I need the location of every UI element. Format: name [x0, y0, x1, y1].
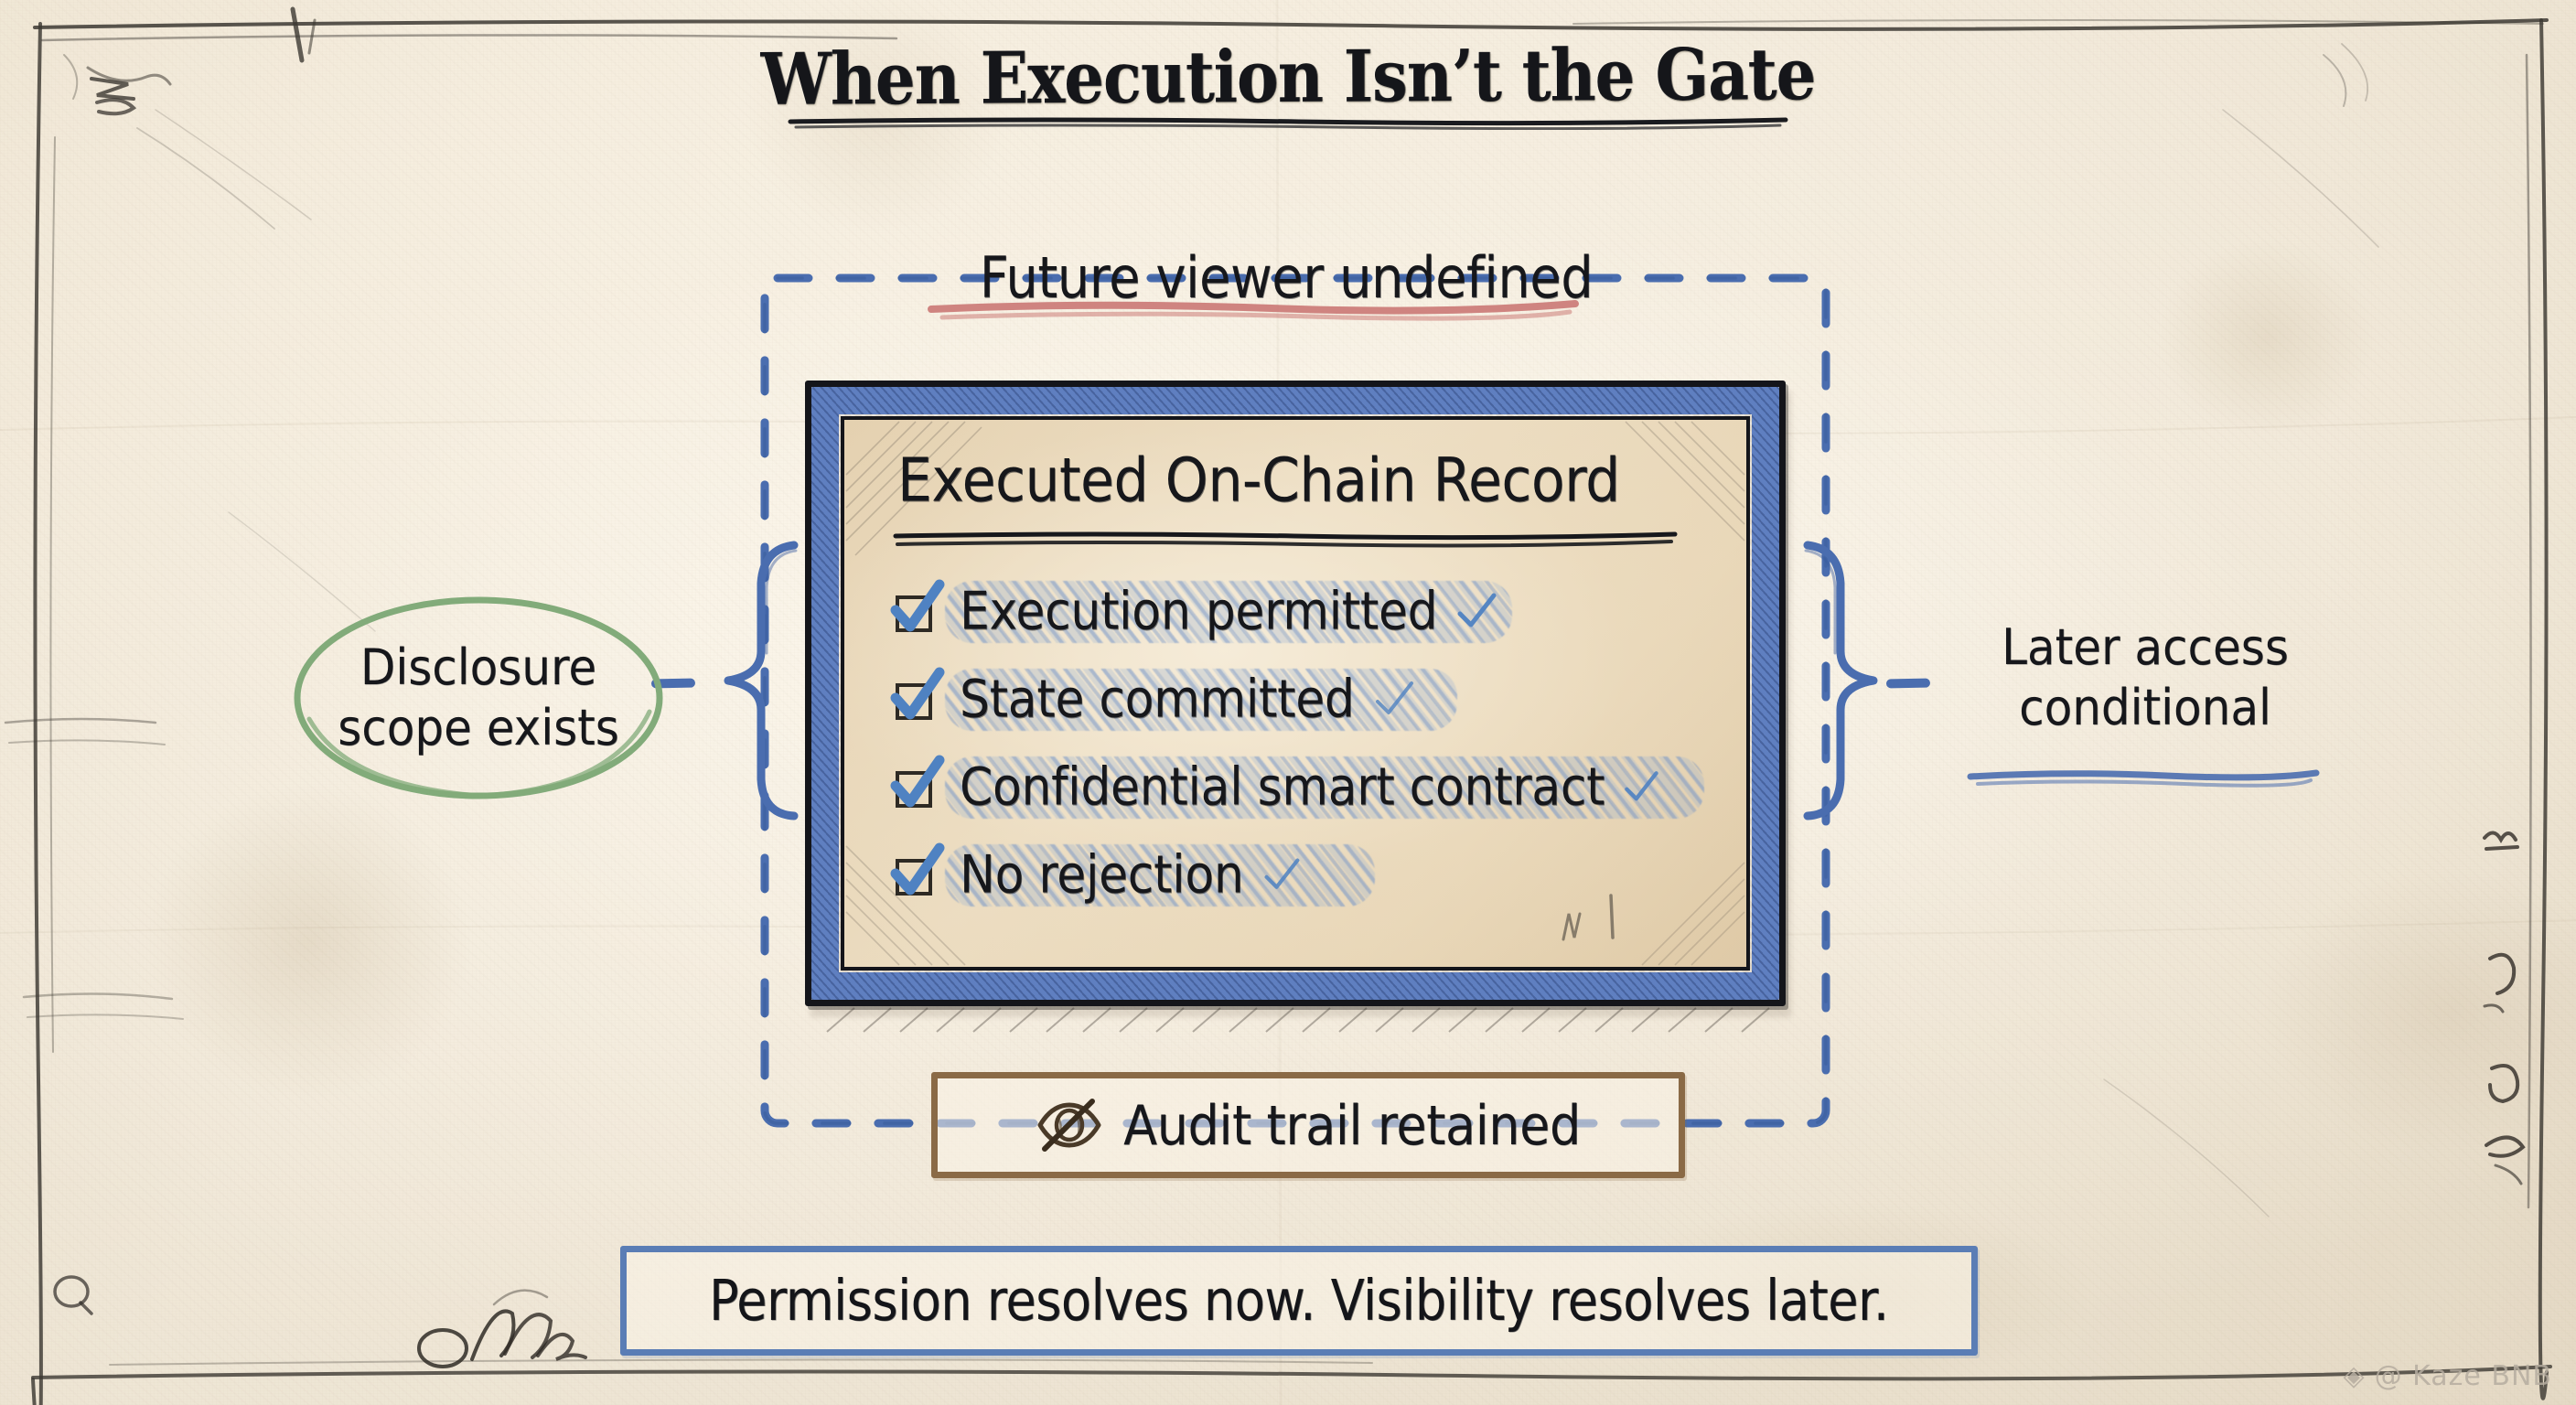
eye-off-icon: [1036, 1098, 1103, 1153]
checkbox-checked-icon[interactable]: [892, 676, 939, 724]
checklist-item-label: No rejection: [960, 845, 1244, 906]
watermark: ◈ @ Kaze BNB: [2344, 1360, 2553, 1392]
margin-doodle-right: [2324, 44, 2523, 1184]
checklist-item-label: Confidential smart contract: [960, 757, 1605, 818]
card-interior: Executed On-Chain Record Execution permi…: [844, 420, 1746, 967]
trailing-check-icon: [1623, 768, 1659, 807]
audit-trail-label: Audit trail retained: [1123, 1093, 1581, 1156]
right-brace-connector: [1886, 679, 1930, 689]
audit-trail-box[interactable]: Audit trail retained: [931, 1072, 1685, 1178]
checkbox-checked-icon[interactable]: [892, 852, 939, 899]
card-pencil-mark: [1527, 886, 1637, 950]
card-ground-shadow-hatch: [818, 1003, 1791, 1035]
card-heading: Executed On-Chain Record: [897, 445, 1620, 516]
checklist-item-label: Execution permitted: [960, 582, 1437, 642]
page-title: When Execution Isn’t the Gate: [760, 38, 1815, 118]
trailing-check-icon: [1262, 856, 1301, 895]
later-access-annotation: Later access conditional: [1930, 617, 2360, 738]
checklist-item[interactable]: Execution permitted: [892, 568, 1728, 656]
later-access-line2: conditional: [1930, 678, 2360, 738]
page-title-container: When Execution Isn’t the Gate: [0, 40, 2576, 116]
trailing-check-icon: [1455, 592, 1497, 632]
later-access-line1: Later access: [1930, 617, 2360, 678]
disclosure-scope-line2: scope exists: [338, 698, 619, 758]
summary-banner: Permission resolves now. Visibility reso…: [620, 1246, 1978, 1356]
trailing-check-icon: [1373, 680, 1415, 720]
checkbox-checked-icon[interactable]: [892, 764, 939, 811]
right-brace: [1795, 540, 1883, 821]
disclosure-scope-annotation: Disclosure scope exists: [291, 593, 666, 803]
executed-record-card: Executed On-Chain Record Execution permi…: [805, 381, 1786, 1006]
sketch-canvas: When Execution Isn’t the Gate Future vie…: [0, 0, 2576, 1405]
card-heading-underline: [892, 531, 1679, 548]
margin-doodle-signature: [419, 1291, 585, 1367]
disclosure-scope-line1: Disclosure: [360, 638, 596, 698]
checklist-item-label: State committed: [960, 670, 1355, 730]
disclosure-scope-text: Disclosure scope exists: [291, 585, 666, 811]
watermark-diamond-icon: ◈: [2344, 1360, 2366, 1392]
checkbox-checked-icon[interactable]: [892, 588, 939, 636]
margin-doodle-bottom-left: [55, 1277, 91, 1314]
checklist-item[interactable]: Confidential smart contract: [892, 744, 1728, 831]
watermark-text: @ Kaze BNB: [2375, 1360, 2552, 1392]
checklist: Execution permitted State committed: [892, 568, 1728, 919]
later-access-underline: [1965, 768, 2322, 788]
summary-banner-text: Permission resolves now. Visibility reso…: [709, 1268, 1888, 1334]
left-brace: [719, 540, 807, 821]
title-underline: [787, 117, 1789, 130]
checklist-item[interactable]: State committed: [892, 656, 1728, 744]
future-viewer-underline: [924, 298, 1583, 322]
